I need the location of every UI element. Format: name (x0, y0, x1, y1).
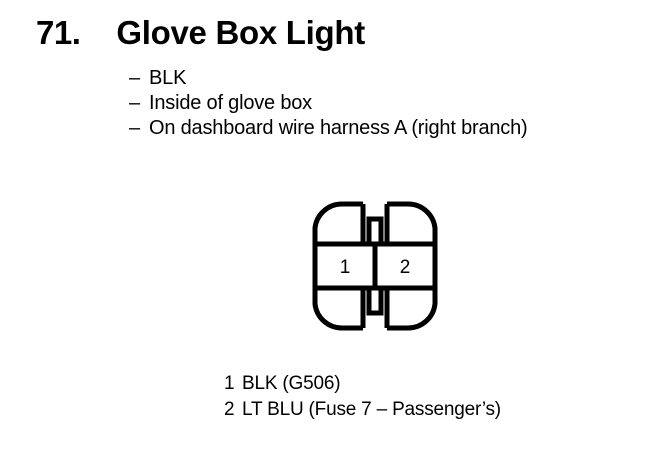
lower-right-arc (387, 288, 435, 328)
lower-center-locking-tab (369, 288, 381, 313)
dash-icon: – (129, 116, 149, 141)
pin-legend: 1 BLK (G506) 2 LT BLU (Fuse 7 – Passenge… (224, 371, 501, 423)
upper-right-arc (387, 204, 435, 244)
connector-reference-page: 71. Glove Box Light – BLK – Inside of gl… (0, 0, 672, 450)
cavity-number-2: 2 (400, 257, 411, 278)
cavity-number-1: 1 (340, 257, 351, 278)
list-item: 1 BLK (G506) (224, 371, 501, 397)
upper-center-locking-tab (369, 219, 381, 244)
legend-description: BLK (G506) (242, 371, 340, 397)
dash-icon: – (129, 91, 149, 116)
legend-pin-number: 2 (224, 397, 242, 423)
connector-face-svg: 1 2 (310, 200, 440, 332)
specification-list: – BLK – Inside of glove box – On dashboa… (129, 66, 527, 141)
dash-icon: – (129, 66, 149, 91)
upper-left-arc (315, 204, 363, 244)
legend-pin-number: 1 (224, 371, 242, 397)
list-item: – On dashboard wire harness A (right bra… (129, 116, 527, 141)
legend-description: LT BLU (Fuse 7 – Passenger’s) (242, 397, 501, 423)
list-item: 2 LT BLU (Fuse 7 – Passenger’s) (224, 397, 501, 423)
lower-left-arc (315, 288, 363, 328)
component-name: Glove Box Light (116, 16, 365, 49)
connector-diagram: 1 2 (310, 200, 440, 332)
list-item: – BLK (129, 66, 527, 91)
spec-text: BLK (149, 66, 186, 91)
list-item: – Inside of glove box (129, 91, 527, 116)
spec-text: Inside of glove box (149, 91, 312, 116)
spec-text: On dashboard wire harness A (right branc… (149, 116, 527, 141)
connector-outline (315, 204, 435, 328)
item-number: 71. (36, 16, 80, 49)
page-title: 71. Glove Box Light (36, 16, 365, 49)
